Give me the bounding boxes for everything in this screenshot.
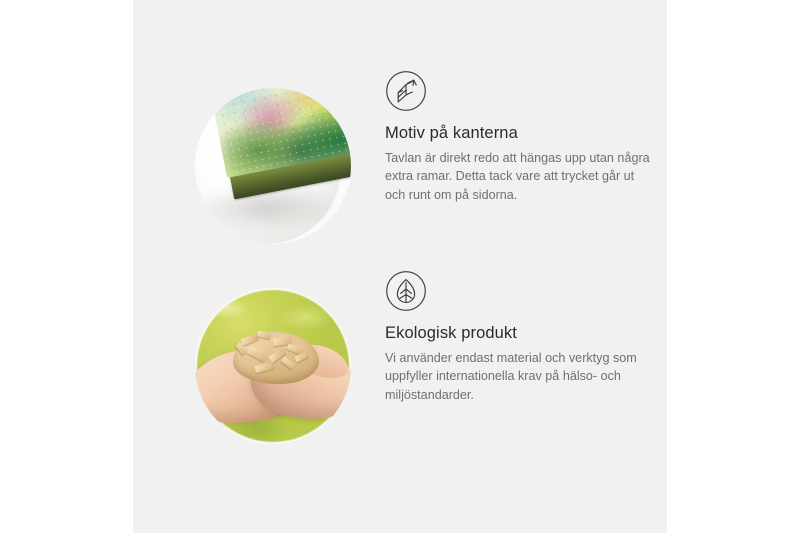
feature-text-column: Ekologisk produkt Vi använder endast mat… xyxy=(385,270,667,404)
leaf-eco-icon xyxy=(385,270,427,312)
canvas-photo-scene xyxy=(195,88,351,244)
feature-text-column: Motiv på kanterna Tavlan är direkt redo … xyxy=(385,70,667,204)
feature-row-motiv-pa-kanterna: Motiv på kanterna Tavlan är direkt redo … xyxy=(133,70,667,270)
canvas-wrap-edges-icon xyxy=(385,70,427,112)
content-panel: Motiv på kanterna Tavlan är direkt redo … xyxy=(133,0,667,533)
hands-holding-wood-chips-photo xyxy=(195,288,351,444)
canvas-print-corner-photo xyxy=(195,88,351,244)
feature-title: Ekologisk produkt xyxy=(385,324,667,344)
eco-photo-scene xyxy=(195,288,351,444)
feature-description: Tavlan är direkt redo att hängas upp uta… xyxy=(385,149,651,205)
feature-description: Vi använder endast material och verktyg … xyxy=(385,349,651,405)
feature-title: Motiv på kanterna xyxy=(385,124,667,144)
product-feature-banner: Motiv på kanterna Tavlan är direkt redo … xyxy=(0,0,800,533)
feature-row-ekologisk-produkt: Ekologisk produkt Vi använder endast mat… xyxy=(133,270,667,470)
